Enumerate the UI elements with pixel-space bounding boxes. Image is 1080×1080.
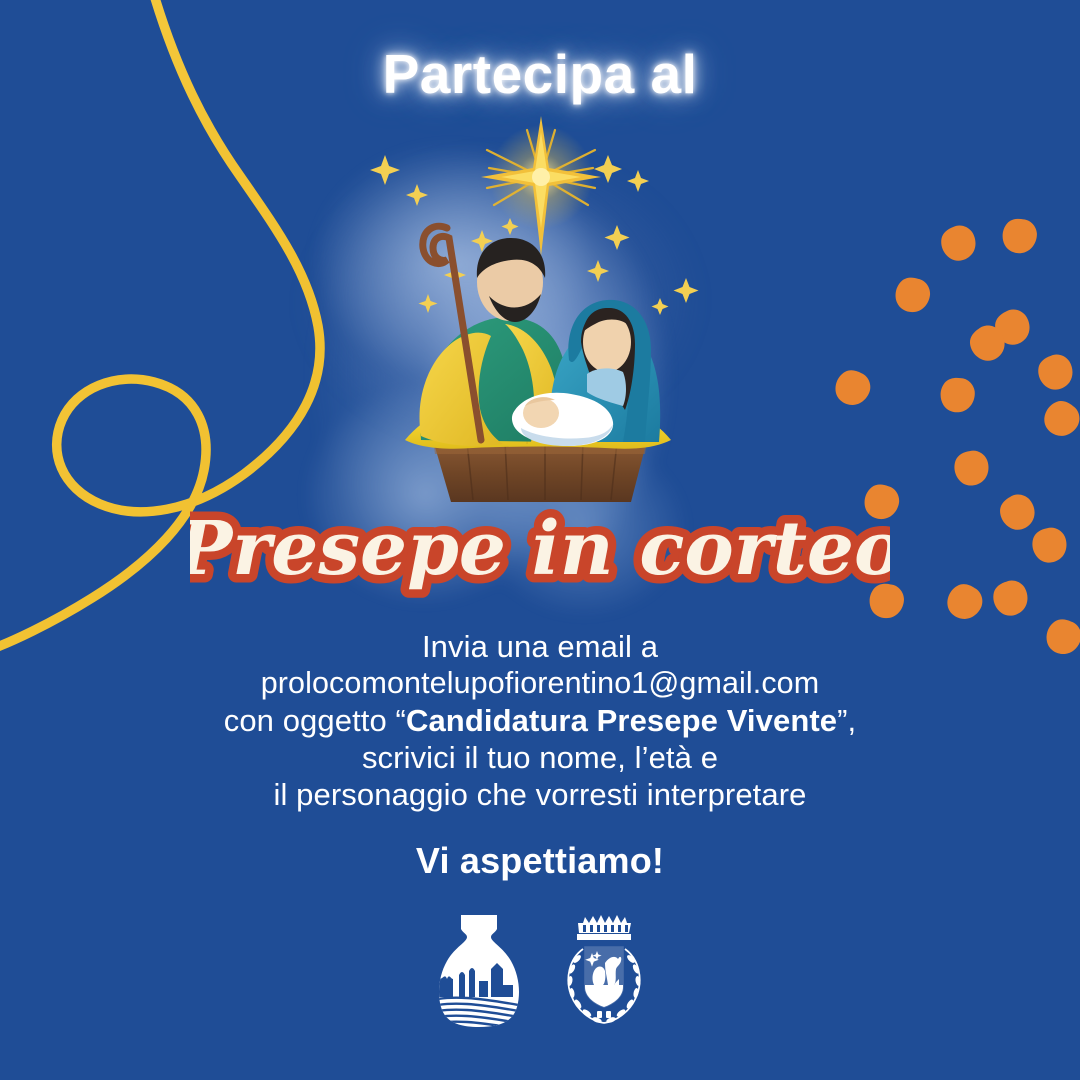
star-of-bethlehem — [481, 116, 601, 256]
body-line-5: il personaggio che vorresti interpretare — [0, 776, 1080, 813]
cta-text: Vi aspettiamo! — [0, 840, 1080, 882]
title-svg: Presepe in corteo Presepe in corteo — [190, 498, 890, 608]
body-line-1: Invia una email a — [0, 628, 1080, 665]
shield — [585, 947, 623, 1007]
crown-icon — [577, 915, 631, 940]
title-fill: Presepe in corteo — [190, 506, 890, 592]
logo-row — [0, 905, 1080, 1031]
body-line-email: prolocomontelupofiorentino1@gmail.com — [0, 665, 1080, 702]
page-kicker: Partecipa al — [0, 42, 1080, 106]
body-line-4: scrivici il tuo nome, l’età e — [0, 739, 1080, 776]
proloco-vase-logo — [433, 909, 525, 1031]
page-title: Presepe in corteo Presepe in corteo — [0, 498, 1080, 598]
body-copy: Invia una email a prolocomontelupofioren… — [0, 628, 1080, 813]
wooden-manger — [433, 440, 647, 502]
body-line-subject: con oggetto “Candidatura Presepe Vivente… — [0, 702, 1080, 739]
wreath-band — [597, 1011, 611, 1018]
poster-canvas: Partecipa al Presepe in corteo Presepe i… — [0, 0, 1080, 1080]
subject-suffix: ”, — [837, 703, 856, 738]
subject-prefix: con oggetto “ — [224, 703, 406, 738]
nativity-illustration — [355, 110, 725, 510]
subject-value: Candidatura Presepe Vivente — [406, 703, 837, 738]
comune-coat-of-arms — [561, 905, 647, 1031]
